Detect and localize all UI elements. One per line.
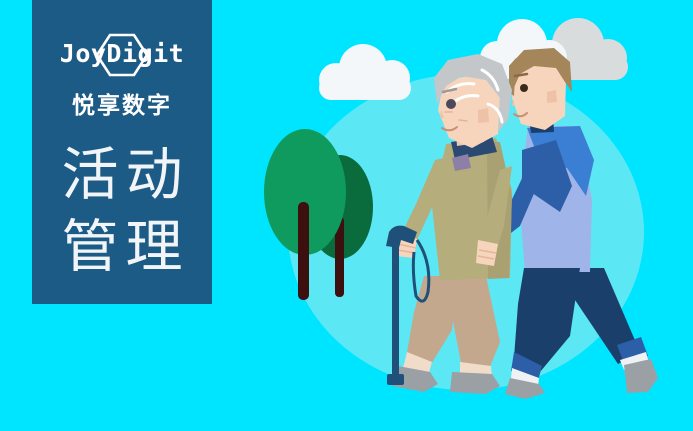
logo-subtitle: 悦享数字 (32, 86, 212, 120)
page-title-line-2: 管理 (32, 216, 212, 278)
brand-panel: JoyDigit 悦享数字 活动 管理 (32, 0, 212, 304)
page-title-line-1: 活动 (32, 144, 212, 206)
activity-management-banner: JoyDigit 悦享数字 活动 管理 (0, 0, 693, 431)
logo-lockup: JoyDigit (32, 32, 212, 78)
logo-wordmark: JoyDigit (32, 38, 212, 70)
